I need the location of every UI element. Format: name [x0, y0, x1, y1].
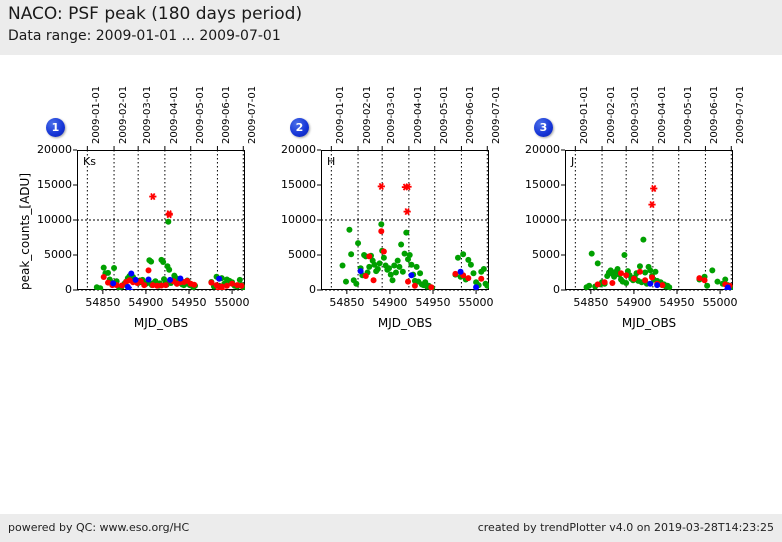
footer-credit-right: created by trendPlotter v4.0 on 2019-03-…: [478, 521, 774, 534]
page-subtitle: Data range: 2009-01-01 ... 2009-07-01: [8, 28, 281, 44]
plot-grid: 1050001000015000200005485054900549505500…: [0, 55, 782, 514]
page-title: NACO: PSF peak (180 days period): [8, 4, 302, 24]
data-points-group: [94, 193, 246, 292]
footer-credit-left: powered by QC: www.eso.org/HC: [8, 521, 189, 534]
chart-panel-2: 2050001000015000200005485054900549505500…: [244, 55, 504, 345]
plot-canvas: [244, 55, 504, 345]
plot-canvas: [0, 55, 260, 345]
data-points-group: [340, 183, 491, 291]
data-points-group: [584, 185, 735, 292]
footer-band: powered by QC: www.eso.org/HC created by…: [0, 514, 782, 542]
header-band: NACO: PSF peak (180 days period) Data ra…: [0, 0, 782, 55]
chart-panel-1: 1050001000015000200005485054900549505500…: [0, 55, 260, 345]
plot-canvas: [488, 55, 748, 345]
chart-panel-3: 3050001000015000200005485054900549505500…: [488, 55, 748, 345]
